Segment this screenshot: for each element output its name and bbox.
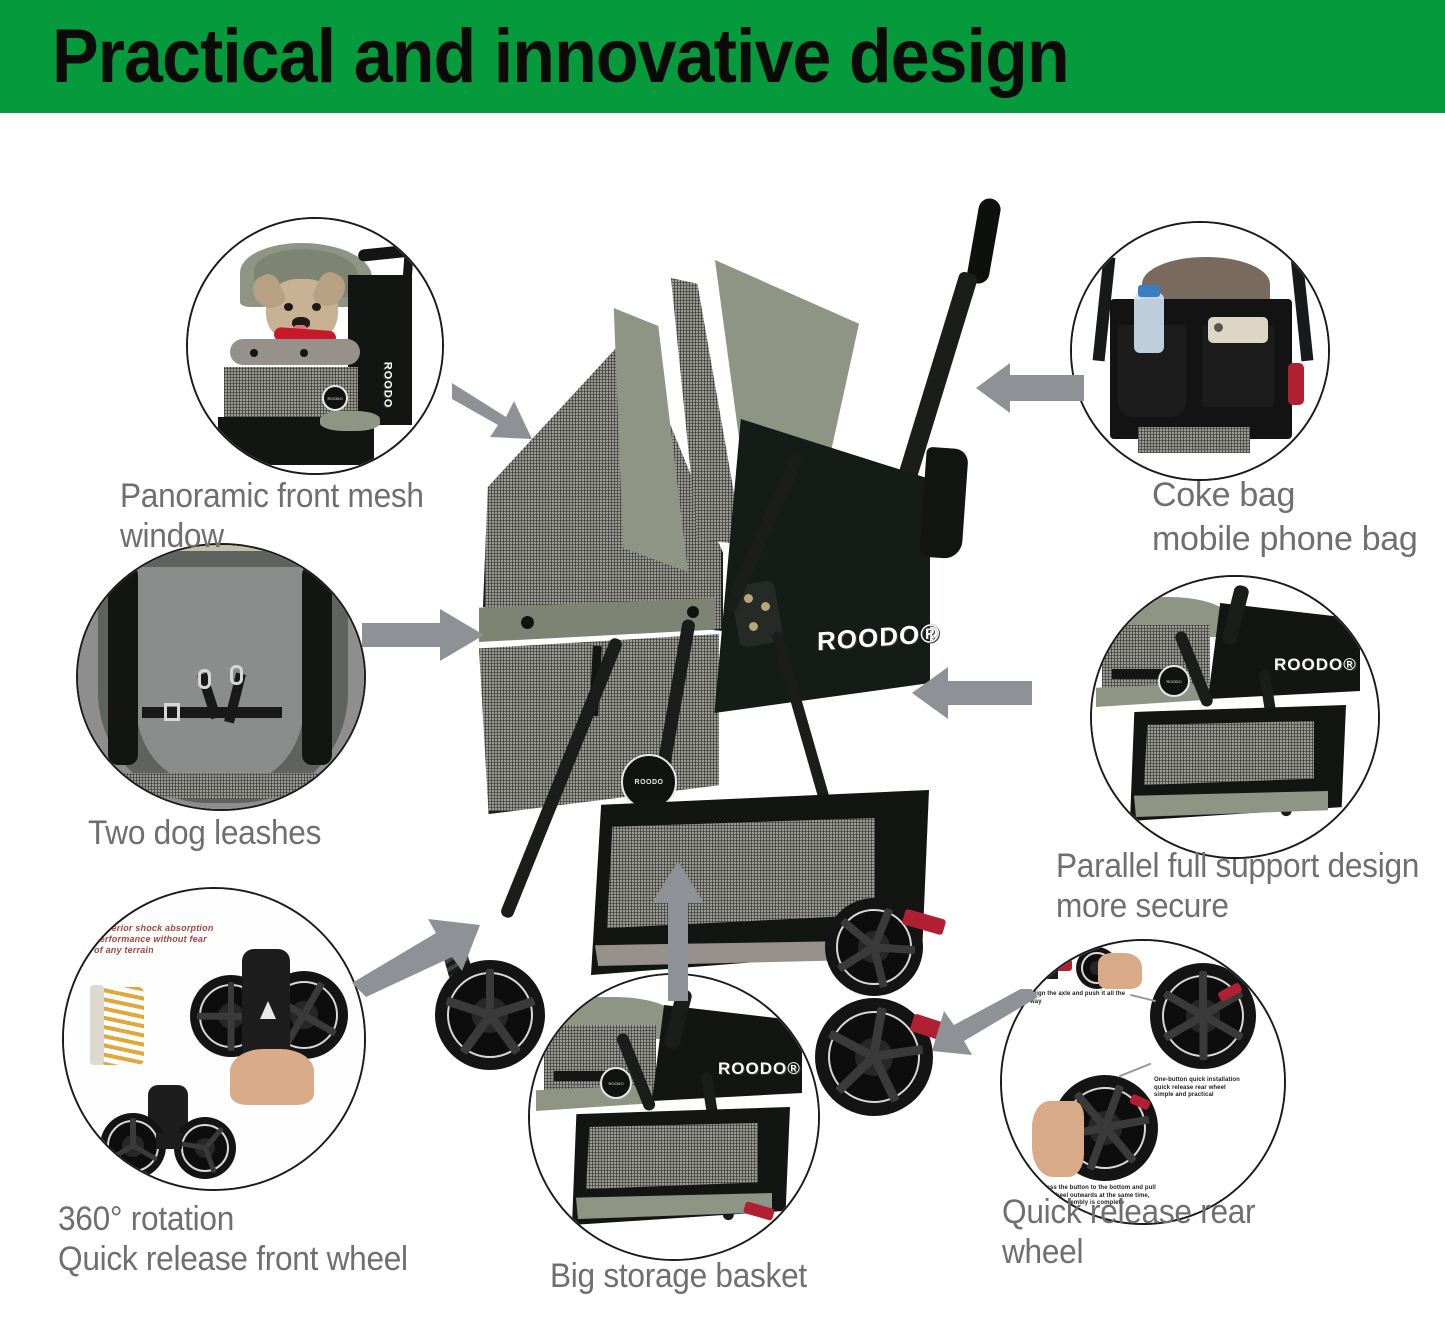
header-banner: Practical and innovative design <box>0 0 1445 113</box>
frame-joint-rivet-a <box>744 594 753 603</box>
arrow-leashes-to-product <box>362 609 484 661</box>
arrow-front-wheel-to-product <box>352 913 480 997</box>
caption-big-storage-basket: Big storage basket <box>550 1256 848 1296</box>
leash-clip-right <box>230 665 243 685</box>
frame-joint-rivet-b <box>761 602 770 611</box>
water-bottle <box>1134 293 1164 353</box>
leash-clip-left <box>198 669 211 689</box>
hand-step-1 <box>1098 953 1142 989</box>
spring-icon <box>100 987 144 1065</box>
inset-parallel-full-support: ROODO® ROODO <box>1090 575 1380 859</box>
caption-parallel-full-support: Parallel full support design more secure <box>1056 846 1428 926</box>
leash-buckle <box>164 703 180 721</box>
arrow-panoramic-to-product <box>452 377 548 449</box>
caption-quick-release-rear-wheel: Quick release rear wheel <box>1002 1192 1318 1272</box>
caption-360-rotation-front-wheel: 360° rotation Quick release front wheel <box>58 1199 449 1279</box>
inset-two-dog-leashes <box>76 543 366 811</box>
arrow-rear-wheel-to-product <box>932 989 1038 1063</box>
inset-quick-release-rear-wheel: Align the axle and push it all the way O… <box>1000 939 1286 1225</box>
arrow-parallel-support-to-product <box>912 667 1032 719</box>
brand-logo-basket-inset: ROODO® <box>718 1059 801 1079</box>
step-1-text: Align the axle and push it all the way <box>1030 991 1130 1006</box>
inset-big-storage-basket: ROODO® ROODO <box>528 973 820 1261</box>
storage-basket-mesh <box>607 818 875 928</box>
caption-panoramic-front-mesh-window: Panoramic front mesh window <box>120 476 511 556</box>
inset-shock-absorption-text: Superior shock absorption performance wi… <box>94 923 264 956</box>
canopy-hem-rivet-left <box>521 616 534 629</box>
brand-badge-text: ROODO <box>635 779 664 786</box>
page-title: Practical and innovative design <box>52 17 1069 97</box>
caption-two-dog-leashes: Two dog leashes <box>88 813 386 853</box>
inset-360-rotation-front-wheel: Superior shock absorption performance wi… <box>62 887 366 1191</box>
frame-joint-rivet-c <box>749 622 758 631</box>
step-2-text: One-button quick installation quick rele… <box>1154 1077 1276 1100</box>
arrow-basket-to-product <box>650 861 706 1001</box>
side-pocket <box>919 447 969 560</box>
stroller-interior-pad <box>136 567 304 781</box>
caption-coke-bag-mobile-phone-bag: Coke bag mobile phone bag <box>1152 473 1445 561</box>
bottle-cap <box>1138 285 1160 297</box>
inset-coke-bag-mobile-phone-bag <box>1070 221 1330 481</box>
infographic-stage: ROODO® ROODO <box>0 113 1445 1344</box>
hand-step-3 <box>1032 1101 1084 1177</box>
main-product-image: ROODO® ROODO <box>405 198 1025 1078</box>
arrow-coke-bag-to-product <box>976 363 1084 413</box>
push-handle-grip <box>966 197 1003 286</box>
hand-top <box>230 1049 314 1105</box>
axle-up-arrow <box>260 1001 276 1019</box>
brand-logo-support-inset: ROODO® <box>1274 655 1357 675</box>
canopy-hem-rivet-right <box>687 606 699 618</box>
inset-panoramic-front-mesh-window: ROODO ROODO <box>186 217 444 475</box>
brand-badge-main: ROODO <box>621 754 677 810</box>
bag-red-clip <box>1288 363 1304 405</box>
